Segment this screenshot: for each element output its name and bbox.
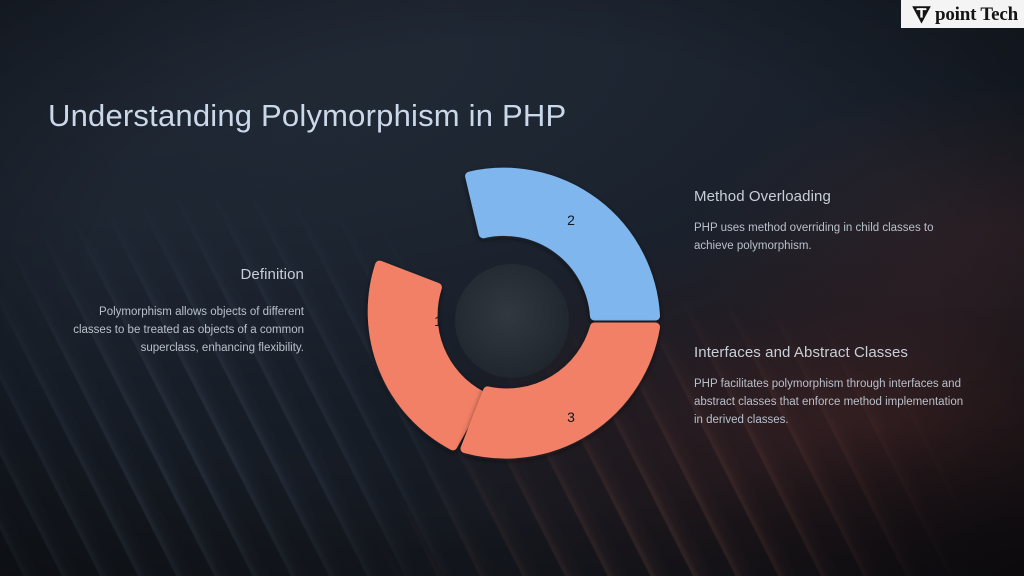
donut-segment-1-label: 1 <box>434 313 442 329</box>
callout-definition: Definition Polymorphism allows objects o… <box>60 266 304 357</box>
donut-center-hole <box>455 264 569 378</box>
tpoint-triangle-t-icon <box>911 4 932 25</box>
callout-method-overloading-body: PHP uses method overriding in child clas… <box>694 219 966 255</box>
donut-segment-2-label: 2 <box>567 212 575 228</box>
donut-chart: 1 2 3 <box>352 154 672 474</box>
donut-segment-3-label: 3 <box>567 409 575 425</box>
logo-text: point Tech <box>935 5 1018 24</box>
callout-interfaces-body: PHP facilitates polymorphism through int… <box>694 375 972 429</box>
callout-interfaces-abstract-classes: Interfaces and Abstract Classes PHP faci… <box>694 344 972 429</box>
callout-definition-body: Polymorphism allows objects of different… <box>60 303 304 357</box>
callout-definition-heading: Definition <box>60 266 304 283</box>
slide-canvas: point Tech Understanding Polymorphism in… <box>0 0 1024 576</box>
page-title: Understanding Polymorphism in PHP <box>48 98 566 134</box>
callout-interfaces-heading: Interfaces and Abstract Classes <box>694 344 972 361</box>
callout-method-overloading: Method Overloading PHP uses method overr… <box>694 188 966 255</box>
tpoint-tech-logo[interactable]: point Tech <box>901 0 1024 28</box>
callout-method-overloading-heading: Method Overloading <box>694 188 966 205</box>
